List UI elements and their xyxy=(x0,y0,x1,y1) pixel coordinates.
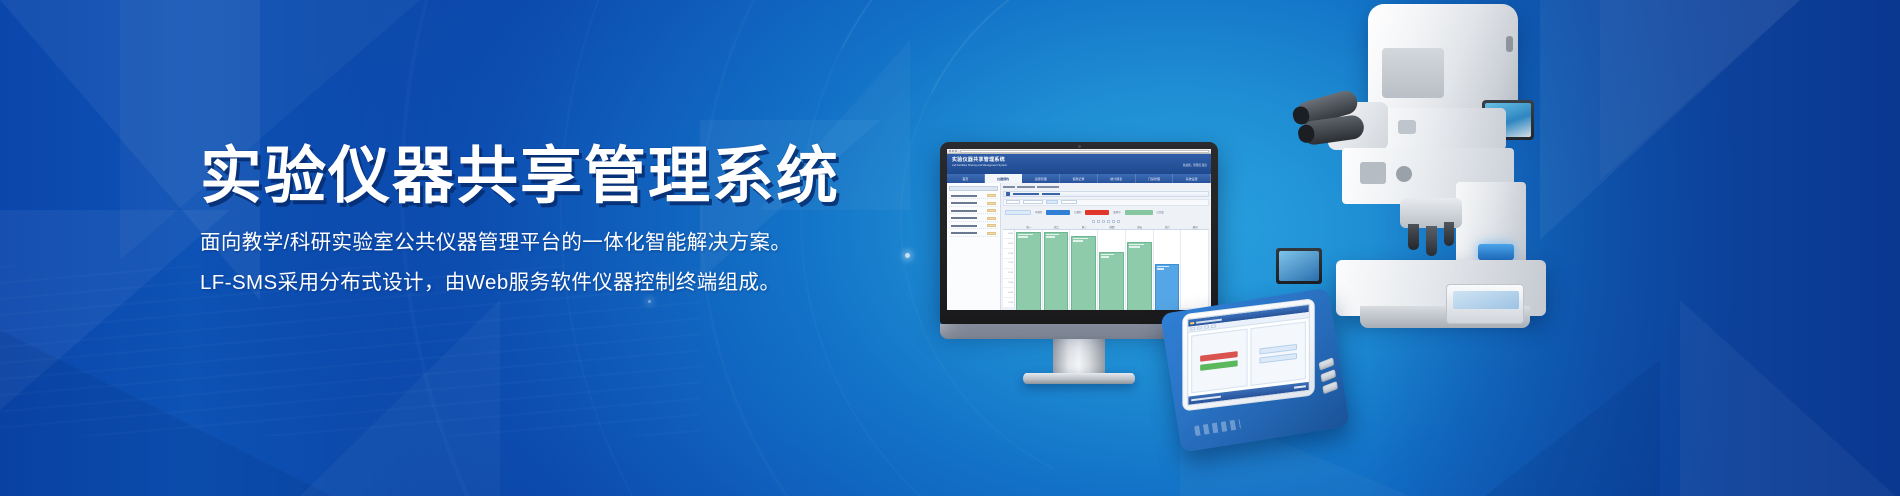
terminal-toolbar-button[interactable] xyxy=(1197,326,1202,330)
sidebar-header xyxy=(949,186,998,191)
monitor-bezel: 实验仪器共享管理系统 Lab Facilities Sharing and Ma… xyxy=(940,142,1218,324)
calendar-col-sat: 周六 xyxy=(1154,225,1182,229)
today-button[interactable] xyxy=(1097,220,1100,223)
time-label: 11:00 xyxy=(1003,259,1014,269)
terminal-toolbar-button[interactable] xyxy=(1190,327,1195,331)
browser-reload-icon[interactable] xyxy=(955,150,957,152)
calendar-corner xyxy=(1003,225,1015,229)
list-item[interactable] xyxy=(949,208,998,214)
calendar-column[interactable] xyxy=(1015,230,1043,309)
microscope-objective-lens xyxy=(1426,226,1437,256)
calendar-column[interactable] xyxy=(1126,230,1154,309)
filter-bar[interactable] xyxy=(1003,199,1209,206)
prev-week-icon[interactable] xyxy=(1092,220,1095,223)
legend-label-booked: 已预约 xyxy=(1074,210,1081,214)
view-day-button[interactable] xyxy=(1107,220,1110,223)
monitor-foot xyxy=(1023,373,1135,384)
time-label: 14:00 xyxy=(1003,288,1014,298)
app-title-cn: 实验仪器共享管理系统 xyxy=(952,157,1206,164)
list-item[interactable] xyxy=(949,216,998,222)
terminal-faceplate xyxy=(1182,298,1314,411)
app-body: 可预约 已预约 使用中 已完成 xyxy=(947,183,1211,310)
list-item[interactable] xyxy=(949,231,998,237)
page-title: 实验仪器共享管理系统 xyxy=(200,140,920,213)
microscope-controller-box xyxy=(1446,284,1524,324)
webcam-icon xyxy=(1078,145,1081,148)
nav-item-records[interactable]: 使用记录 xyxy=(1060,174,1098,183)
microscope-side-display xyxy=(1276,248,1322,284)
hero-banner: 实验仪器共享管理系统 面向教学/科研实验室公共仪器管理平台的一体化智能解决方案。… xyxy=(0,0,1900,496)
monitor-neck xyxy=(1053,339,1105,373)
legend-label-busy: 使用中 xyxy=(1113,210,1120,214)
time-label: 10:00 xyxy=(1003,249,1014,259)
calendar-column[interactable] xyxy=(1181,230,1209,309)
app-header: 实验仪器共享管理系统 Lab Facilities Sharing and Ma… xyxy=(947,154,1211,174)
app-main: 可预约 已预约 使用中 已完成 xyxy=(1001,183,1211,310)
nav-item-reports[interactable]: 统计报表 xyxy=(1098,174,1136,183)
booking-block[interactable] xyxy=(1099,252,1124,311)
hardware-illustration: 实验仪器共享管理系统 Lab Facilities Sharing and Ma… xyxy=(920,0,1900,496)
terminal-info-button[interactable] xyxy=(1259,353,1297,364)
microscope-illuminator xyxy=(1478,244,1514,260)
terminal-port xyxy=(1322,381,1338,394)
calendar-column[interactable] xyxy=(1154,230,1182,309)
microscope-arm xyxy=(1374,108,1506,150)
hero-subtitle: 面向教学/科研实验室公共仪器管理平台的一体化智能解决方案。 LF-SMS采用分布… xyxy=(200,213,920,300)
nav-item-home[interactable]: 首页 xyxy=(947,174,985,183)
next-week-icon[interactable] xyxy=(1102,220,1105,223)
legend-label-done: 已完成 xyxy=(1157,210,1164,214)
browser-forward-icon[interactable] xyxy=(952,150,954,152)
list-item[interactable] xyxy=(949,193,998,199)
instrument-sidebar xyxy=(947,183,1001,310)
browser-back-icon[interactable] xyxy=(949,150,951,152)
status-badge-booked xyxy=(1046,210,1070,215)
status-legend: 可预约 已预约 使用中 已完成 xyxy=(1003,208,1209,217)
hero-copy: 实验仪器共享管理系统 面向教学/科研实验室公共仪器管理平台的一体化智能解决方案。… xyxy=(200,140,920,307)
microscope-stage-dial xyxy=(1396,166,1412,182)
calendar-column[interactable] xyxy=(1098,230,1126,309)
calendar-col-thu: 周四 xyxy=(1098,225,1126,229)
terminal-toolbar-button[interactable] xyxy=(1204,325,1209,329)
status-badge-busy xyxy=(1085,210,1109,215)
nav-item-settings[interactable]: 系统设置 xyxy=(1173,174,1211,183)
microscope-objective-lens xyxy=(1444,222,1454,246)
status-badge-free xyxy=(1005,210,1031,215)
time-label: 08:00 xyxy=(1003,230,1014,240)
breadcrumb xyxy=(1003,185,1209,189)
terminal-card-left xyxy=(1191,329,1247,394)
legend-label-free: 可预约 xyxy=(1035,210,1042,214)
app-nav: 首页 仪器预约 资源管理 使用记录 统计报表 门禁管理 系统设置 xyxy=(947,174,1211,183)
subtitle-line-2: LF-SMS采用分布式设计，由Web服务软件仪器控制终端组成。 xyxy=(200,267,920,300)
booking-block[interactable] xyxy=(1044,232,1069,311)
terminal-stop-button[interactable] xyxy=(1200,360,1238,371)
booking-block[interactable] xyxy=(1016,232,1041,311)
microscope-focus-knob xyxy=(1398,120,1416,134)
nav-item-resources[interactable]: 资源管理 xyxy=(1022,174,1060,183)
nav-item-access[interactable]: 门禁管理 xyxy=(1136,174,1174,183)
calendar-column[interactable] xyxy=(1070,230,1098,309)
microscope-stage-detail xyxy=(1360,162,1386,184)
calendar-col-tue: 周二 xyxy=(1043,225,1071,229)
browser-url-bar[interactable] xyxy=(960,150,1209,153)
booking-block[interactable] xyxy=(1155,264,1180,311)
calendar-col-sun: 周日 xyxy=(1181,225,1209,229)
microscope-objective-lens xyxy=(1408,224,1419,250)
view-month-button[interactable] xyxy=(1117,220,1120,223)
terminal-port xyxy=(1321,369,1337,382)
status-badge-done xyxy=(1125,210,1153,215)
booking-block[interactable] xyxy=(1071,236,1096,311)
view-week-button[interactable] xyxy=(1112,220,1115,223)
time-label: 12:00 xyxy=(1003,269,1014,279)
microscope-detector-head xyxy=(1368,4,1518,112)
time-label: 15:00 xyxy=(1003,298,1014,308)
time-label: 13:00 xyxy=(1003,279,1014,289)
calendar-col-fri: 周五 xyxy=(1126,225,1154,229)
terminal-touchscreen[interactable] xyxy=(1187,304,1310,406)
calendar-col-wed: 周三 xyxy=(1070,225,1098,229)
booking-block[interactable] xyxy=(1127,242,1152,311)
nav-item-booking[interactable]: 仪器预约 xyxy=(985,174,1023,183)
monitor-screen: 实验仪器共享管理系统 Lab Facilities Sharing and Ma… xyxy=(947,149,1211,310)
calendar-grid[interactable]: 08:00 09:00 10:00 11:00 12:00 13:00 14:0… xyxy=(1003,230,1209,309)
app-title-en: Lab Facilities Sharing and Management Sy… xyxy=(952,164,1206,168)
terminal-card-right xyxy=(1250,321,1306,386)
time-label: 09:00 xyxy=(1003,239,1014,249)
user-menu[interactable]: 欢迎您，管理员 退出 xyxy=(1183,163,1207,167)
time-gutter: 08:00 09:00 10:00 11:00 12:00 13:00 14:0… xyxy=(1003,230,1015,309)
calendar-col-mon: 周一 xyxy=(1015,225,1043,229)
calendar-pager[interactable] xyxy=(1003,219,1209,224)
list-item[interactable] xyxy=(949,223,998,229)
microscope-head-port xyxy=(1506,36,1513,52)
terminal-toolbar-button[interactable] xyxy=(1211,324,1216,328)
instrument-control-terminal xyxy=(1160,288,1350,453)
list-item[interactable] xyxy=(949,201,998,207)
calendar-column[interactable] xyxy=(1043,230,1071,309)
panel-title xyxy=(1003,191,1209,197)
subtitle-line-1: 面向教学/科研实验室公共仪器管理平台的一体化智能解决方案。 xyxy=(200,227,920,260)
